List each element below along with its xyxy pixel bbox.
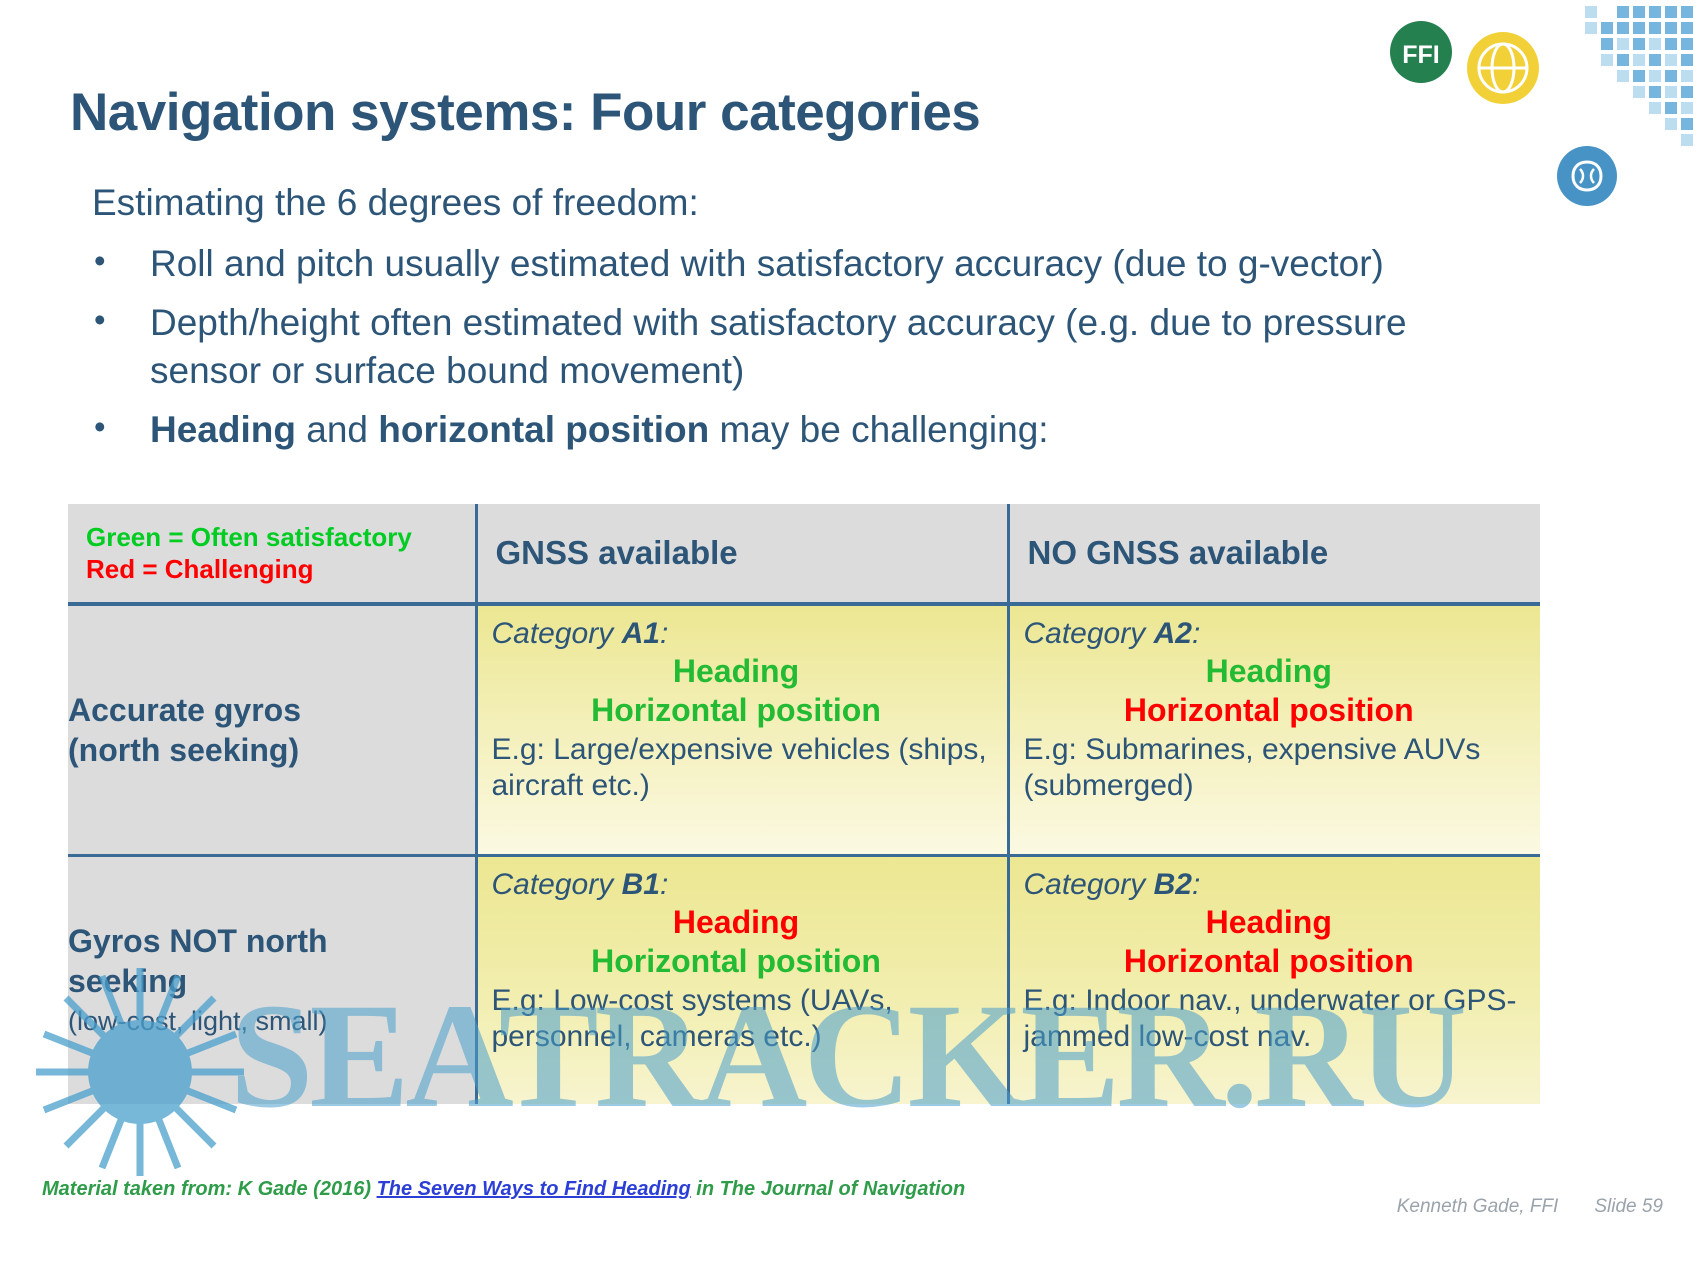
bullet-marker-icon: • [88, 299, 150, 341]
footer-source: Material taken from: K Gade (2016) The S… [42, 1178, 965, 1201]
slide-canvas: FFI Navigation systems: Four categories … [0, 0, 1701, 1283]
cell-b2-category-prefix: Category [1024, 868, 1154, 901]
column-header-no-gnss: NO GNSS available [1008, 504, 1540, 604]
cell-a1-category: Category A1: [492, 616, 1007, 652]
list-item: • Heading and horizontal position may be… [88, 406, 1508, 453]
cell-a1-heading-status: Heading [492, 652, 1007, 691]
footer-source-suffix: in The Journal of Navigation [691, 1178, 965, 1200]
cell-a2-heading-status: Heading [1024, 652, 1541, 691]
bullet-text-2: Depth/height often estimated with satisf… [150, 299, 1508, 394]
cell-b2-heading-status: Heading [1024, 903, 1541, 942]
cell-a2-example: E.g: Submarines, expensive AUVs (submerg… [1024, 732, 1541, 804]
cell-a1-example: E.g: Large/expensive vehicles (ships, ai… [492, 732, 1007, 804]
cell-a2: Category A2: Heading Horizontal position… [1008, 604, 1540, 855]
row-label-line2: (north seeking) [68, 732, 299, 768]
cell-b2: Category B2: Heading Horizontal position… [1008, 855, 1540, 1104]
column-header-gnss-label: GNSS available [478, 534, 1007, 572]
footer-source-prefix: Material taken from: K Gade (2016) [42, 1178, 377, 1200]
table-row: Gyros NOT north seeking (low-cost, light… [68, 855, 1540, 1104]
legend-green-line: Green = Often satisfactory [86, 522, 475, 554]
cell-a1-category-id: A1 [622, 617, 660, 650]
footer-meta: Kenneth Gade, FFISlide 59 [1397, 1196, 1663, 1218]
footer-source-link[interactable]: The Seven Ways to Find Heading [377, 1178, 691, 1200]
cell-a1-category-prefix: Category [492, 617, 622, 650]
row-label-accurate-gyros: Accurate gyros (north seeking) [68, 604, 476, 855]
cell-b2-category-id: B2 [1154, 868, 1192, 901]
legend-red-line: Red = Challenging [86, 554, 475, 586]
cell-b2-category: Category B2: [1024, 867, 1541, 903]
cell-b1-category-suffix: : [660, 868, 668, 901]
bullet-text-3-strong-1: Heading [150, 409, 296, 450]
row-label-gyros-not-north: Gyros NOT north seeking (low-cost, light… [68, 855, 476, 1104]
bullet-text-3-plain-1: and [296, 409, 378, 450]
svg-text:FFI: FFI [1402, 41, 1440, 69]
list-item: • Depth/height often estimated with sati… [88, 299, 1508, 394]
cell-b1-category-prefix: Category [492, 868, 622, 901]
row-label-line1: Gyros NOT north [68, 923, 328, 959]
legend-cell: Green = Often satisfactory Red = Challen… [68, 504, 476, 604]
bullet-text-3-plain-2: may be challenging: [709, 409, 1048, 450]
table-header-row: Green = Often satisfactory Red = Challen… [68, 504, 1540, 604]
page-title: Navigation systems: Four categories [70, 82, 980, 143]
cell-a2-position-status: Horizontal position [1024, 691, 1541, 730]
cell-a1-category-suffix: : [660, 617, 668, 650]
cell-a2-category-suffix: : [1192, 617, 1200, 650]
row-label-sub: (low-cost, light, small) [68, 1005, 475, 1039]
cell-a2-category-id: A2 [1154, 617, 1192, 650]
cell-b1-example: E.g: Low-cost systems (UAVs, personnel, … [492, 983, 1007, 1055]
cell-b2-example: E.g: Indoor nav., underwater or GPS-jamm… [1024, 983, 1541, 1055]
cell-a1: Category A1: Heading Horizontal position… [476, 604, 1008, 855]
cell-b1: Category B1: Heading Horizontal position… [476, 855, 1008, 1104]
list-item: • Roll and pitch usually estimated with … [88, 240, 1508, 287]
column-header-no-gnss-label: NO GNSS available [1010, 534, 1541, 572]
bullet-marker-icon: • [88, 240, 150, 282]
bullet-text-3-strong-2: horizontal position [378, 409, 709, 450]
bullet-list: • Roll and pitch usually estimated with … [88, 240, 1508, 465]
footer-author: Kenneth Gade, FFI [1397, 1196, 1559, 1217]
footer-slide-number: Slide 59 [1594, 1196, 1663, 1217]
ffi-brand-graphic: FFI [1371, 0, 1701, 240]
bullet-text-1: Roll and pitch usually estimated with sa… [150, 240, 1384, 287]
cell-b1-category: Category B1: [492, 867, 1007, 903]
cell-b1-position-status: Horizontal position [492, 942, 1007, 981]
cell-b2-position-status: Horizontal position [1024, 942, 1541, 981]
bullet-text-3: Heading and horizontal position may be c… [150, 406, 1049, 453]
row-label-line2: seeking [68, 963, 187, 999]
cell-b2-category-suffix: : [1192, 868, 1200, 901]
cell-b1-category-id: B1 [622, 868, 660, 901]
row-label-line1: Accurate gyros [68, 692, 301, 728]
column-header-gnss: GNSS available [476, 504, 1008, 604]
categories-table: Green = Often satisfactory Red = Challen… [68, 504, 1540, 1104]
bullet-marker-icon: • [88, 406, 150, 448]
lead-text: Estimating the 6 degrees of freedom: [92, 182, 699, 224]
cell-a1-position-status: Horizontal position [492, 691, 1007, 730]
cell-a2-category-prefix: Category [1024, 617, 1154, 650]
cell-b1-heading-status: Heading [492, 903, 1007, 942]
table-row: Accurate gyros (north seeking) Category … [68, 604, 1540, 855]
cell-a2-category: Category A2: [1024, 616, 1541, 652]
